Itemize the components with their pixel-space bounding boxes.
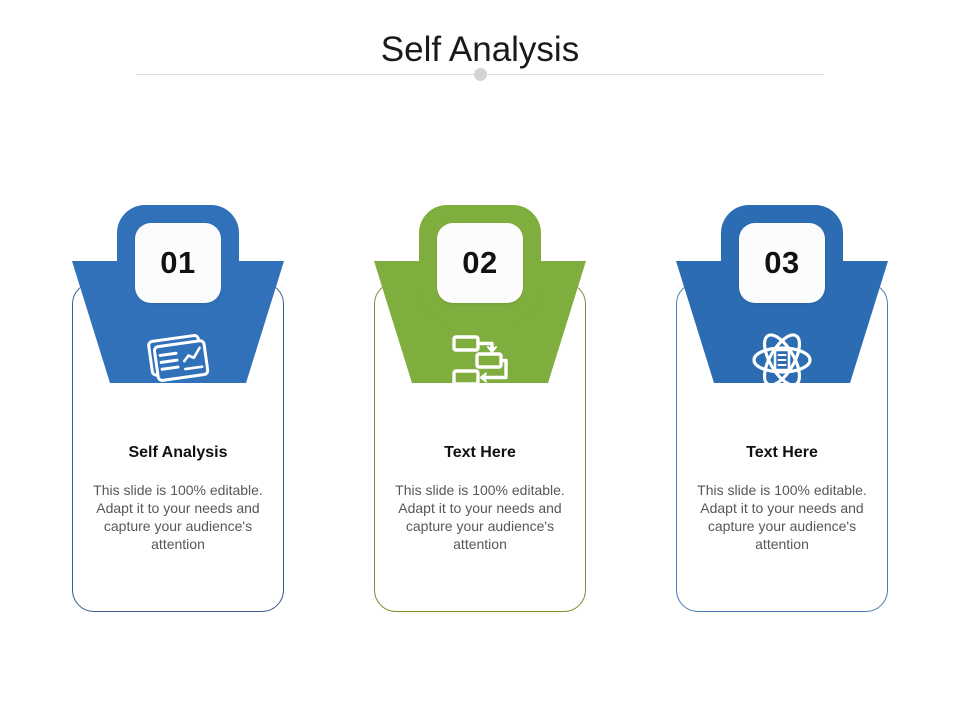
card-02[interactable]: 02 Text Here T	[330, 205, 630, 625]
card-number-label: 03	[764, 245, 799, 281]
card-01[interactable]: 01 Self Analysis	[28, 205, 328, 625]
card-number-label: 02	[462, 245, 497, 281]
card-description: This slide is 100% editable. Adapt it to…	[682, 481, 882, 553]
card-heading: Text Here	[380, 443, 580, 463]
card-text-block: Self Analysis This slide is 100% editabl…	[78, 443, 278, 553]
card-number-badge: 01	[117, 205, 239, 321]
card-description: This slide is 100% editable. Adapt it to…	[78, 481, 278, 553]
card-03[interactable]: 03	[632, 205, 932, 625]
cards-container: 01 Self Analysis	[0, 0, 960, 720]
card-heading: Text Here	[682, 443, 882, 463]
card-text-block: Text Here This slide is 100% editable. A…	[380, 443, 580, 553]
card-number-badge: 03	[721, 205, 843, 321]
card-number-badge-inner: 01	[135, 223, 221, 303]
card-heading: Self Analysis	[78, 443, 278, 463]
slide-canvas: Self Analysis 01	[0, 0, 960, 720]
card-number-badge: 02	[419, 205, 541, 321]
card-number-label: 01	[160, 245, 195, 281]
card-number-badge-inner: 03	[739, 223, 825, 303]
card-text-block: Text Here This slide is 100% editable. A…	[682, 443, 882, 553]
card-number-badge-inner: 02	[437, 223, 523, 303]
card-description: This slide is 100% editable. Adapt it to…	[380, 481, 580, 553]
